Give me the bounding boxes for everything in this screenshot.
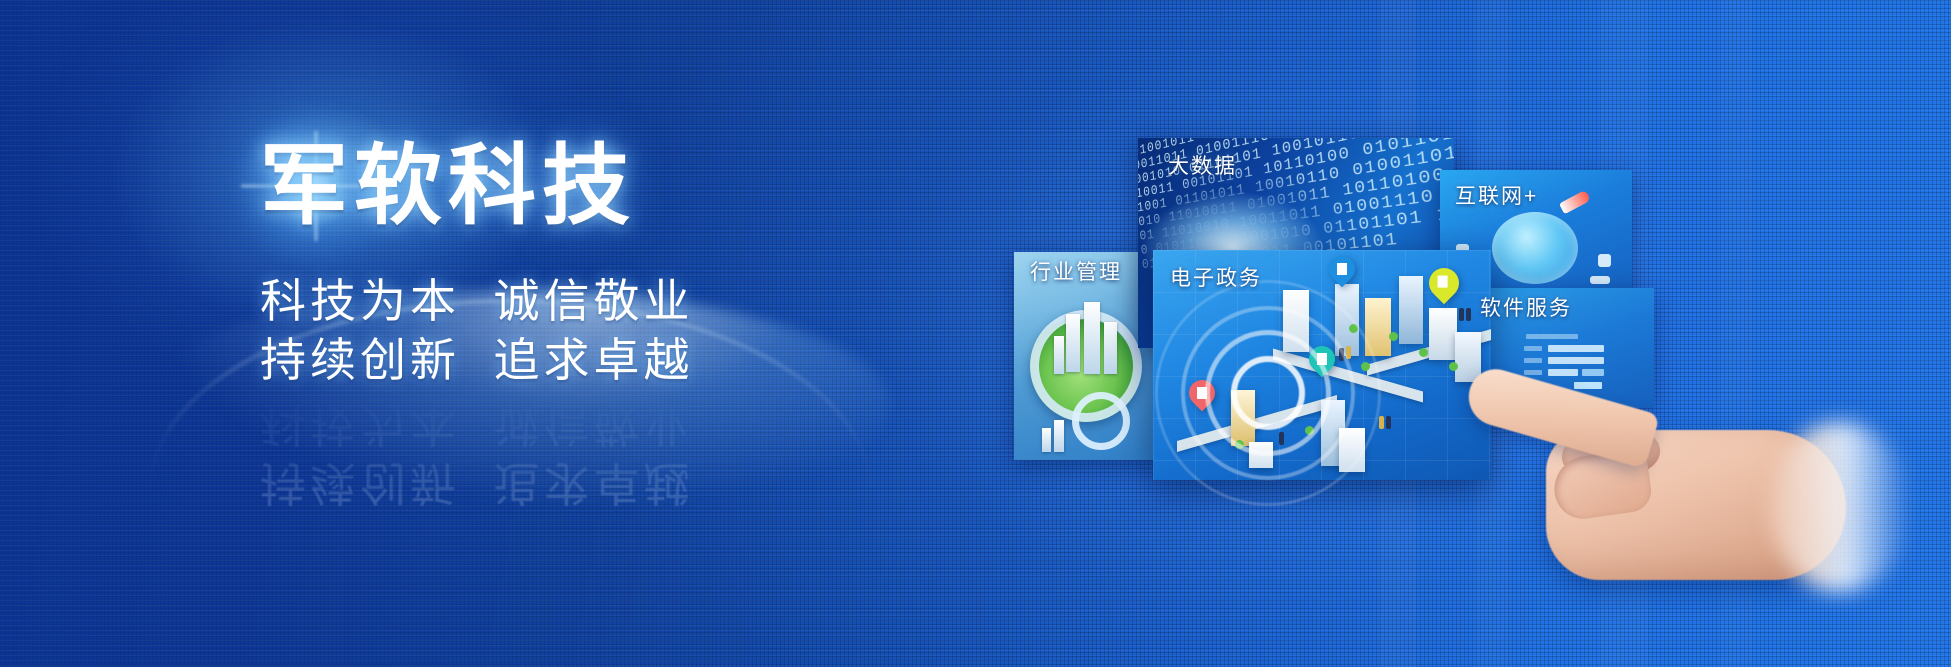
form-input-field[interactable] — [1548, 357, 1604, 364]
iso-building — [1429, 308, 1457, 360]
hand-motion-fade — [1770, 422, 1910, 592]
eco-building — [1054, 420, 1064, 452]
form-label — [1524, 358, 1542, 363]
eco-building — [1084, 302, 1100, 374]
hero-banner: 军软科技 科技为本 诚信敬业 持续创新 追求卓越 持续创新 追求卓越 科技为本 … — [0, 0, 1951, 667]
eco-building — [1104, 322, 1117, 374]
globe-icon — [1492, 212, 1578, 284]
iso-building — [1283, 290, 1309, 352]
rocket-icon — [1559, 190, 1591, 215]
cloud-node-icon — [1598, 254, 1611, 267]
form-footnote — [1530, 396, 1590, 401]
tree-icon — [1235, 440, 1244, 449]
tree-icon — [1449, 362, 1458, 371]
tagline-reflection-line-1: 科技为本 诚信敬业 — [260, 394, 880, 453]
tagline-line-2: 持续创新 追求卓越 — [260, 331, 880, 390]
form-caption — [1526, 334, 1578, 339]
person-figure — [1279, 432, 1284, 445]
tree-icon — [1419, 348, 1428, 357]
person-figure — [1346, 346, 1351, 359]
person-figure — [1386, 416, 1391, 429]
person-figure — [1379, 416, 1384, 429]
panel-label-industry-management: 行业管理 — [1030, 256, 1122, 286]
panel-label-internet-plus: 互联网+ — [1455, 180, 1538, 210]
person-figure — [1459, 308, 1464, 321]
hand-knuckle — [1562, 434, 1624, 480]
form-input-field[interactable] — [1548, 369, 1578, 376]
iso-building — [1399, 276, 1423, 344]
eco-building — [1054, 336, 1064, 374]
iso-building — [1339, 428, 1365, 472]
person-figure — [1339, 348, 1344, 361]
eco-building — [1042, 428, 1051, 452]
tree-icon — [1361, 362, 1370, 371]
iso-building — [1249, 442, 1273, 468]
tree-icon — [1389, 332, 1398, 341]
iso-building — [1231, 390, 1255, 446]
tagline: 科技为本 诚信敬业 持续创新 追求卓越 — [260, 272, 880, 390]
iso-building — [1365, 298, 1391, 356]
form-submit-button[interactable] — [1574, 382, 1602, 389]
person-figure — [1466, 308, 1471, 321]
panel-label-software-service: 软件服务 — [1480, 292, 1572, 322]
tagline-reflection: 持续创新 追求卓越 科技为本 诚信敬业 — [260, 394, 880, 512]
eco-building — [1066, 314, 1080, 372]
panel-label-e-government: 电子政务 — [1170, 262, 1262, 292]
form-captcha[interactable] — [1582, 369, 1604, 376]
pointing-hand-icon — [1470, 378, 1900, 628]
hand-knuckle — [1598, 428, 1660, 474]
tagline-line-1: 科技为本 诚信敬业 — [260, 272, 880, 331]
eco-small-ring-icon — [1072, 392, 1130, 450]
panel-label-big-data: 大数据 — [1168, 150, 1237, 180]
hand-palm — [1546, 430, 1846, 580]
form-label — [1524, 346, 1542, 351]
form-label — [1524, 370, 1542, 375]
tree-icon — [1349, 324, 1358, 333]
hand-thumb — [1550, 448, 1654, 523]
tree-icon — [1305, 426, 1314, 435]
headline-block: 军软科技 科技为本 诚信敬业 持续创新 追求卓越 持续创新 追求卓越 科技为本 … — [260, 140, 880, 512]
tagline-reflection-line-2: 持续创新 追求卓越 — [260, 453, 880, 512]
iso-building — [1455, 332, 1481, 382]
monitor-node-icon — [1590, 276, 1610, 284]
form-input-field[interactable] — [1548, 345, 1604, 352]
brand-title: 军软科技 — [260, 140, 880, 232]
